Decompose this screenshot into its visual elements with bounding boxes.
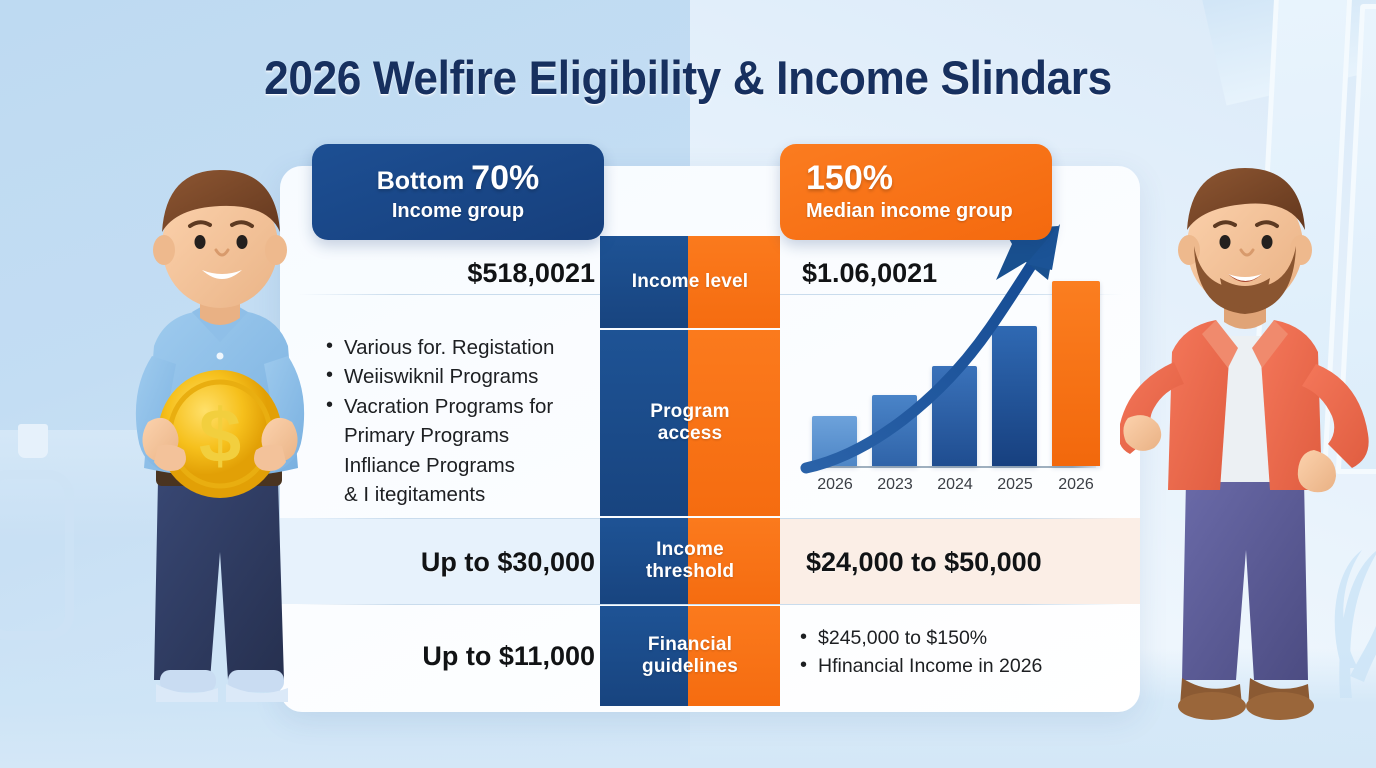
chart-bar-2 bbox=[932, 366, 977, 466]
bullet-text: & I itegitaments bbox=[344, 483, 485, 506]
cell-income-level-right: $1.06,0021 bbox=[802, 258, 937, 289]
chart-xtick-0: 2026 bbox=[807, 476, 863, 494]
pill-right-percent: 150% bbox=[806, 161, 1026, 195]
bullet-text: Infliance Programs bbox=[344, 454, 515, 477]
right-person-illustration bbox=[1120, 150, 1370, 740]
header-pill-bottom-70[interactable]: Bottom 70% Income group bbox=[312, 144, 604, 240]
cell-income-level-left: $518,0021 bbox=[410, 258, 595, 289]
pill-left-headline: Bottom 70% bbox=[338, 161, 578, 195]
cell-income-threshold-right: $24,000 to $50,000 bbox=[806, 547, 1042, 578]
chart-xtick-2: 2024 bbox=[927, 476, 983, 494]
bullet-text: $245,000 to $150% bbox=[818, 627, 987, 649]
row-label-income-level: Income level bbox=[600, 236, 780, 328]
chart-bar-1 bbox=[872, 395, 917, 466]
pill-right-subtitle: Median income group bbox=[806, 201, 1026, 221]
office-chair bbox=[0, 470, 74, 640]
chart-xtick-1: 2023 bbox=[867, 476, 923, 494]
chart-bar-4 bbox=[1052, 281, 1100, 466]
row-label-financial-guidelines: Financial guidelines bbox=[600, 606, 780, 706]
bullet-text: Primary Programs bbox=[344, 424, 509, 447]
bullet-text: Hfinancial Income in 2026 bbox=[818, 655, 1042, 677]
bullet-text: Weiiswiknil Programs bbox=[344, 365, 538, 388]
list-item-continuation: Infliance Programs bbox=[326, 452, 596, 479]
pill-left-percent: 70% bbox=[471, 159, 539, 197]
growth-bar-chart: 2026 2023 2024 2025 2026 bbox=[800, 300, 1100, 500]
center-band-financial-guidelines: Financial guidelines bbox=[600, 606, 780, 706]
chart-xtick-3: 2025 bbox=[987, 476, 1043, 494]
chart-x-axis bbox=[800, 466, 1096, 468]
bullet-text: Various for. Registation bbox=[344, 336, 554, 359]
list-item: Vacration Programs for bbox=[326, 393, 596, 420]
chart-bar-3 bbox=[992, 326, 1037, 466]
cell-financial-guidelines-right-bullets: $245,000 to $150% Hfinancial Income in 2… bbox=[800, 625, 1120, 681]
list-item: $245,000 to $150% bbox=[800, 625, 1120, 651]
list-item: Hfinancial Income in 2026 bbox=[800, 653, 1120, 679]
pill-left-subtitle: Income group bbox=[338, 201, 578, 221]
list-item-continuation: & I itegitaments bbox=[326, 481, 596, 508]
chart-xtick-4: 2026 bbox=[1048, 476, 1104, 494]
center-band-income-level: Income level bbox=[600, 236, 780, 328]
list-item: Weiiswiknil Programs bbox=[326, 363, 596, 390]
cell-income-threshold-left: Up to $30,000 bbox=[395, 547, 595, 578]
center-band-income-threshold: Income threshold bbox=[600, 518, 780, 604]
pen-cup bbox=[18, 424, 48, 458]
list-item: Various for. Registation bbox=[326, 334, 596, 361]
header-pill-150-median[interactable]: 150% Median income group bbox=[780, 144, 1052, 240]
row-label-program-access: Program access bbox=[600, 330, 780, 516]
row-separator-3 bbox=[298, 604, 1122, 605]
pill-left-prefix: Bottom bbox=[377, 167, 471, 195]
chart-bar-0 bbox=[812, 416, 857, 466]
center-band-program-access: Program access bbox=[600, 330, 780, 516]
left-person-illustration: $ bbox=[96, 150, 346, 730]
row-label-income-threshold: Income threshold bbox=[600, 518, 780, 604]
cell-program-access-left-bullets: Various for. Registation Weiiswiknil Pro… bbox=[326, 334, 596, 511]
list-item-continuation: Primary Programs bbox=[326, 422, 596, 449]
svg-text:$: $ bbox=[199, 394, 241, 479]
bullet-text: Vacration Programs for bbox=[344, 395, 553, 418]
cell-financial-guidelines-left: Up to $11,000 bbox=[395, 641, 595, 672]
page-title: 2026 Welfire Eligibility & Income Slinda… bbox=[41, 50, 1334, 105]
